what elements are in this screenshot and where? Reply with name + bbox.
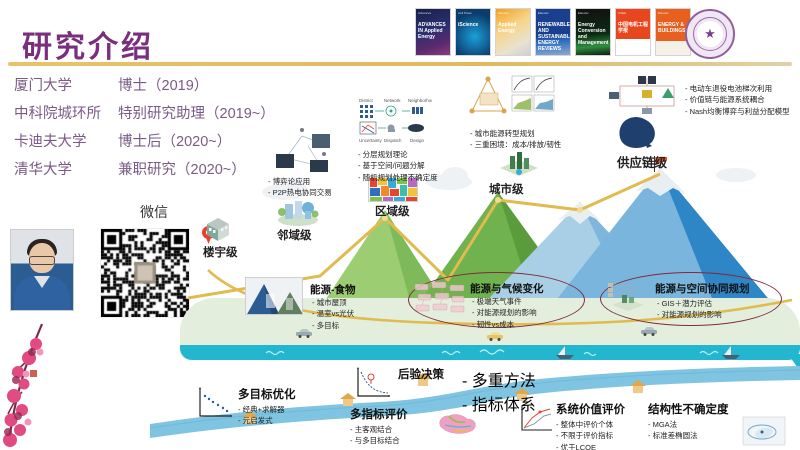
note-line: - Nash均衡博弈与利益分配模型 (685, 106, 790, 117)
group-list-energy-climate: - 极端天气事件- 对能源规划的影响- 韧性vs成本 (472, 296, 537, 330)
level-label-building: 楼宇级 (203, 244, 238, 260)
bottom-list: - 整体中评价个体- 不限于评价指标- 优于LCOE (556, 419, 625, 450)
pareto-front-chart-icon (196, 386, 234, 420)
cv-organization: 清华大学 (14, 158, 118, 179)
note-line: - 城市能源转型规划 (470, 128, 561, 139)
cv-role: 特别研究助理（2019~） (118, 102, 275, 123)
supply-chain-diagram (608, 74, 686, 120)
system-value-plot-icon (518, 404, 554, 434)
group-list-item: - 极端天气事件 (472, 296, 537, 307)
cv-row: 中科院城环所特别研究助理（2019~） (14, 102, 275, 123)
svg-text:Design: Design (410, 138, 425, 143)
journal-cover: ElsevierEnergy Conversion and Management (575, 8, 611, 56)
car-icon (295, 329, 313, 338)
group-list-item: - 城市屋顶 (312, 297, 354, 308)
journal-title: ENERGY & BUILDINGS (658, 22, 688, 34)
p2p-trading-diagram (268, 124, 340, 176)
journal-cover: AdvancesADVANCES IN Applied Energy (415, 8, 451, 56)
wechat-qr-code[interactable] (100, 228, 190, 318)
group-list-item: - 对能源规划的影响 (657, 309, 722, 320)
bottom-title: 结构性不确定度 (648, 401, 729, 417)
note-line: - 电动车退役电池梯次利用 (685, 83, 790, 94)
bottom-list-item: - 优于LCOE (556, 442, 625, 450)
ellipse-method-icon (742, 416, 786, 446)
journal-publisher: CSEE (618, 11, 626, 15)
journal-cover: Cell PressiScience (455, 8, 491, 56)
note-city: - 城市能源转型规划- 三重困境：成本/排放/韧性 (470, 128, 561, 151)
bottom-list-item: - 元启发式 (238, 415, 296, 426)
cv-organization: 厦门大学 (14, 74, 118, 95)
bottom-list: - MGA法- 标准差椭圆法 (648, 419, 729, 442)
hut-icon (630, 380, 646, 393)
group-list-item: - 对能源规划的影响 (472, 307, 537, 318)
group-list-item: - 温室vs光伏 (312, 308, 354, 319)
district-planning-diagram: District Network Neighborhood Uncertaint… (358, 96, 432, 148)
china-map-icon (435, 411, 479, 437)
cv-organization: 卡迪夫大学 (14, 130, 118, 151)
journal-publisher: Elsevier (578, 11, 589, 15)
journal-covers-strip: AdvancesADVANCES IN Applied EnergyCell P… (415, 8, 691, 56)
bottom-section-multi-objective-optimization: 多目标优化 - 经典+求解器- 元启发式 (238, 386, 296, 427)
journal-title: Energy Conversion and Management (578, 22, 608, 46)
note-line: - 随机规划处理不确定度 (358, 172, 438, 183)
bottom-list: - 主客观结合- 与多目标结合 (350, 424, 408, 447)
seal-star-icon: ★ (704, 27, 716, 40)
journal-title: 中国电机工程学报 (618, 22, 648, 34)
group-title-energy-space: 能源与空间协同规划 (655, 281, 750, 296)
bottom-list-item: - 经典+求解器 (238, 404, 296, 415)
bottom-list-item: - 与多目标结合 (350, 435, 408, 446)
note-district: - 分层规划理论- 基于空间/问题分解- 随机规划处理不确定度 (358, 149, 438, 183)
car-icon (640, 327, 658, 336)
journal-cover: ElsevierApplied Energy (495, 8, 531, 56)
note-line: - 价值链与能源系统耦合 (685, 94, 790, 105)
journal-cover: CSEE中国电机工程学报 (615, 8, 651, 56)
cv-role: 博士（2019） (118, 74, 208, 95)
note-line: - 三重困境：成本/排放/韧性 (470, 139, 561, 150)
journal-title: Applied Energy (498, 22, 528, 34)
group-title-energy-food: 能源-食物 (310, 282, 356, 297)
level-label-neighborhood: 邻域级 (277, 227, 312, 243)
group-list-energy-space: - GIS＋潜力评估- 对能源规划的影响 (657, 298, 722, 321)
bottom-title: 后验决策 (398, 366, 444, 382)
neighborhood-level-icon (277, 196, 319, 226)
bottom-section-structural-uncertainty: 结构性不确定度 - MGA法- 标准差椭圆法 (648, 401, 729, 442)
journal-publisher: Elsevier (538, 11, 549, 15)
group-title-energy-climate: 能源与气候变化 (470, 281, 544, 296)
journal-publisher: Elsevier (498, 11, 509, 15)
bottom-list-item: - 多重方法 (462, 367, 536, 391)
energy-climate-thumbnail (414, 281, 466, 317)
bottom-section-posterior-decision: 后验决策 (398, 366, 444, 382)
page-title: 研究介绍 (22, 22, 154, 66)
city-level-icon (498, 150, 540, 180)
level-label-district: 区域级 (375, 203, 410, 219)
bottom-title: 多指标评价 (350, 406, 408, 422)
bottom-methods-section: 多目标优化 - 经典+求解器- 元启发式 后验决策 - 多重方法- 指标体系 多… (0, 358, 800, 450)
svg-text:Network: Network (384, 98, 401, 103)
svg-text:Dispatch: Dispatch (384, 138, 402, 143)
group-list-item: - 韧性vs成本 (472, 319, 537, 330)
journal-title: RENEWABLE AND SUSTAINABLE ENERGY REVIEWS (538, 22, 568, 52)
journal-title: iScience (458, 22, 488, 28)
svg-text:Neighborhood: Neighborhood (408, 98, 432, 103)
posterior-decision-chart-icon (354, 366, 392, 400)
journal-title: ADVANCES IN Applied Energy (418, 22, 448, 40)
author-portrait (10, 229, 74, 311)
svg-text:District: District (359, 98, 373, 103)
car-icon (486, 332, 504, 341)
journal-publisher: Advances (418, 11, 431, 15)
bottom-section-system-value-evaluation: 系统价值评价 - 整体中评价个体- 不限于评价指标- 优于LCOE (556, 401, 625, 450)
city-transition-diagram (466, 73, 558, 123)
bottom-list-item: - 整体中评价个体 (556, 419, 625, 430)
journal-cover: ElsevierRENEWABLE AND SUSTAINABLE ENERGY… (535, 8, 571, 56)
group-list-item: - GIS＋潜力评估 (657, 298, 722, 309)
bottom-list-item: - 主客观结合 (350, 424, 408, 435)
bottom-list-item: - 不限于评价指标 (556, 430, 625, 441)
svg-text:Uncertainty: Uncertainty (359, 138, 383, 143)
bottom-list-item: - MGA法 (648, 419, 729, 430)
note-line: - 分层规划理论 (358, 149, 438, 160)
group-list-item: - 多目标 (312, 320, 354, 331)
wechat-label: 微信 (140, 202, 168, 222)
level-label-city: 城市级 (489, 181, 524, 197)
building-level-icon (204, 215, 232, 243)
cv-row: 厦门大学博士（2019） (14, 74, 275, 95)
energy-space-thumbnail (606, 281, 650, 315)
note-line: - 基于空间/问题分解 (358, 160, 438, 171)
cv-organization: 中科院城环所 (14, 102, 118, 123)
note-line: - 博弈论应用 (268, 176, 332, 187)
title-divider (8, 62, 792, 66)
note-p2p: - 博弈论应用- P2P热电协同交易 (268, 176, 332, 199)
tsinghua-university-seal-icon: ★ (685, 9, 735, 59)
bottom-title: 系统价值评价 (556, 401, 625, 417)
bottom-section-multi-index-evaluation: 多指标评价 - 主客观结合- 与多目标结合 (350, 406, 408, 447)
group-list-energy-food: - 城市屋顶- 温室vs光伏- 多目标 (312, 297, 354, 331)
journal-publisher: Elsevier (658, 11, 669, 15)
note-line: - P2P热电协同交易 (268, 187, 332, 198)
bottom-list: - 经典+求解器- 元启发式 (238, 404, 296, 427)
journal-publisher: Cell Press (458, 11, 472, 15)
energy-food-thumbnail (245, 277, 303, 315)
glasses-icon (29, 256, 55, 265)
slide-root: 研究介绍 AdvancesADVANCES IN Applied EnergyC… (0, 0, 800, 450)
bottom-list-item: - 标准差椭圆法 (648, 430, 729, 441)
note-supplychain: - 电动车退役电池梯次利用- 价值链与能源系统耦合- Nash均衡博弈与利益分配… (685, 83, 790, 117)
level-label-supplychain: 供应链级 (617, 152, 667, 171)
